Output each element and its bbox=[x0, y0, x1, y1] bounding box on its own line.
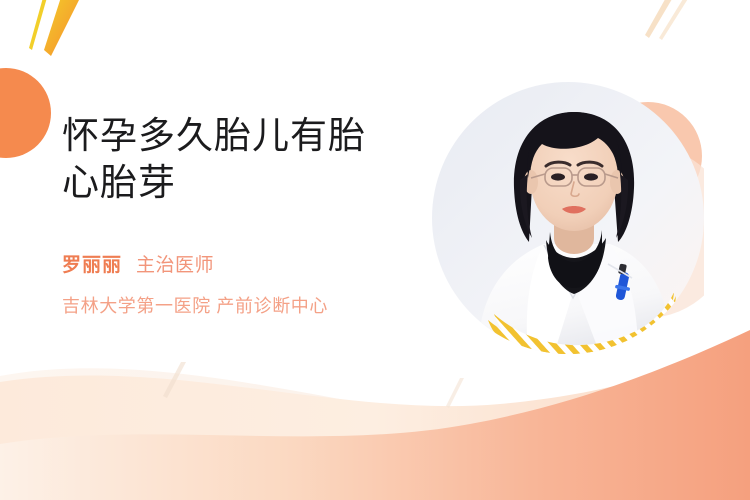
top-right-stripes bbox=[645, 0, 691, 40]
portrait-illustration bbox=[432, 82, 704, 354]
top-left-stripes bbox=[29, 0, 82, 56]
page-title: 怀孕多久胎儿有胎 心胎芽 bbox=[62, 112, 422, 207]
orange-circle-decor bbox=[0, 68, 51, 158]
eye-left bbox=[551, 173, 565, 180]
byline: 罗丽丽 主治医师 bbox=[62, 252, 422, 281]
eye-right bbox=[584, 173, 598, 180]
doctor-name: 罗丽丽 bbox=[62, 252, 122, 281]
doctor-affiliation: 吉林大学第一医院 产前诊断中心 bbox=[62, 293, 422, 319]
doctor-info-card: 怀孕多久胎儿有胎 心胎芽 罗丽丽 主治医师 吉林大学第一医院 产前诊断中心 bbox=[0, 0, 750, 500]
doctor-portrait bbox=[432, 82, 704, 354]
text-block: 怀孕多久胎儿有胎 心胎芽 罗丽丽 主治医师 吉林大学第一医院 产前诊断中心 bbox=[62, 112, 422, 319]
doctor-rank: 主治医师 bbox=[136, 252, 214, 281]
